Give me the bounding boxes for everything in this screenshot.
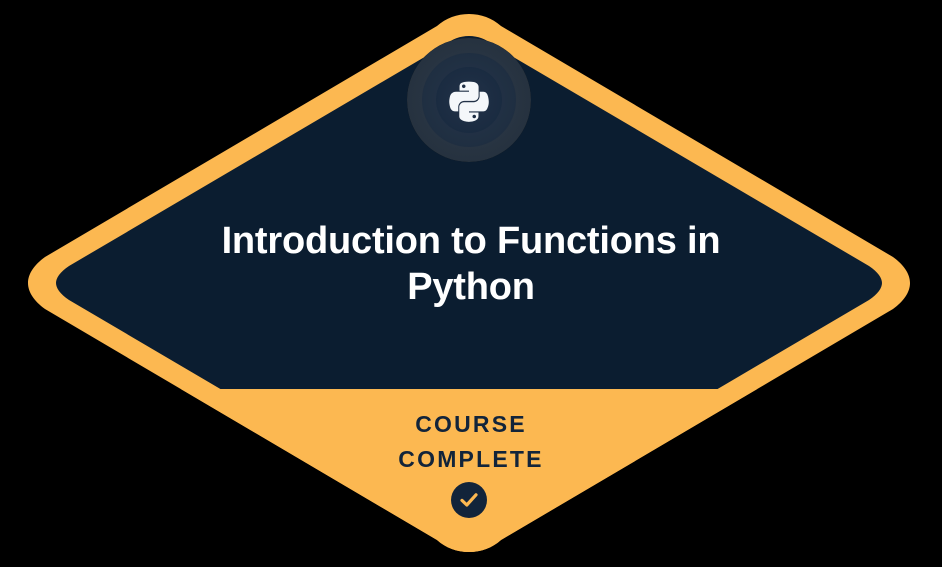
badge-canvas: Introduction to Functions in Python COUR… [0, 0, 942, 567]
badge-lower-fill [0, 389, 942, 567]
check-circle-bg [451, 482, 487, 518]
check-circle-icon [451, 482, 487, 518]
